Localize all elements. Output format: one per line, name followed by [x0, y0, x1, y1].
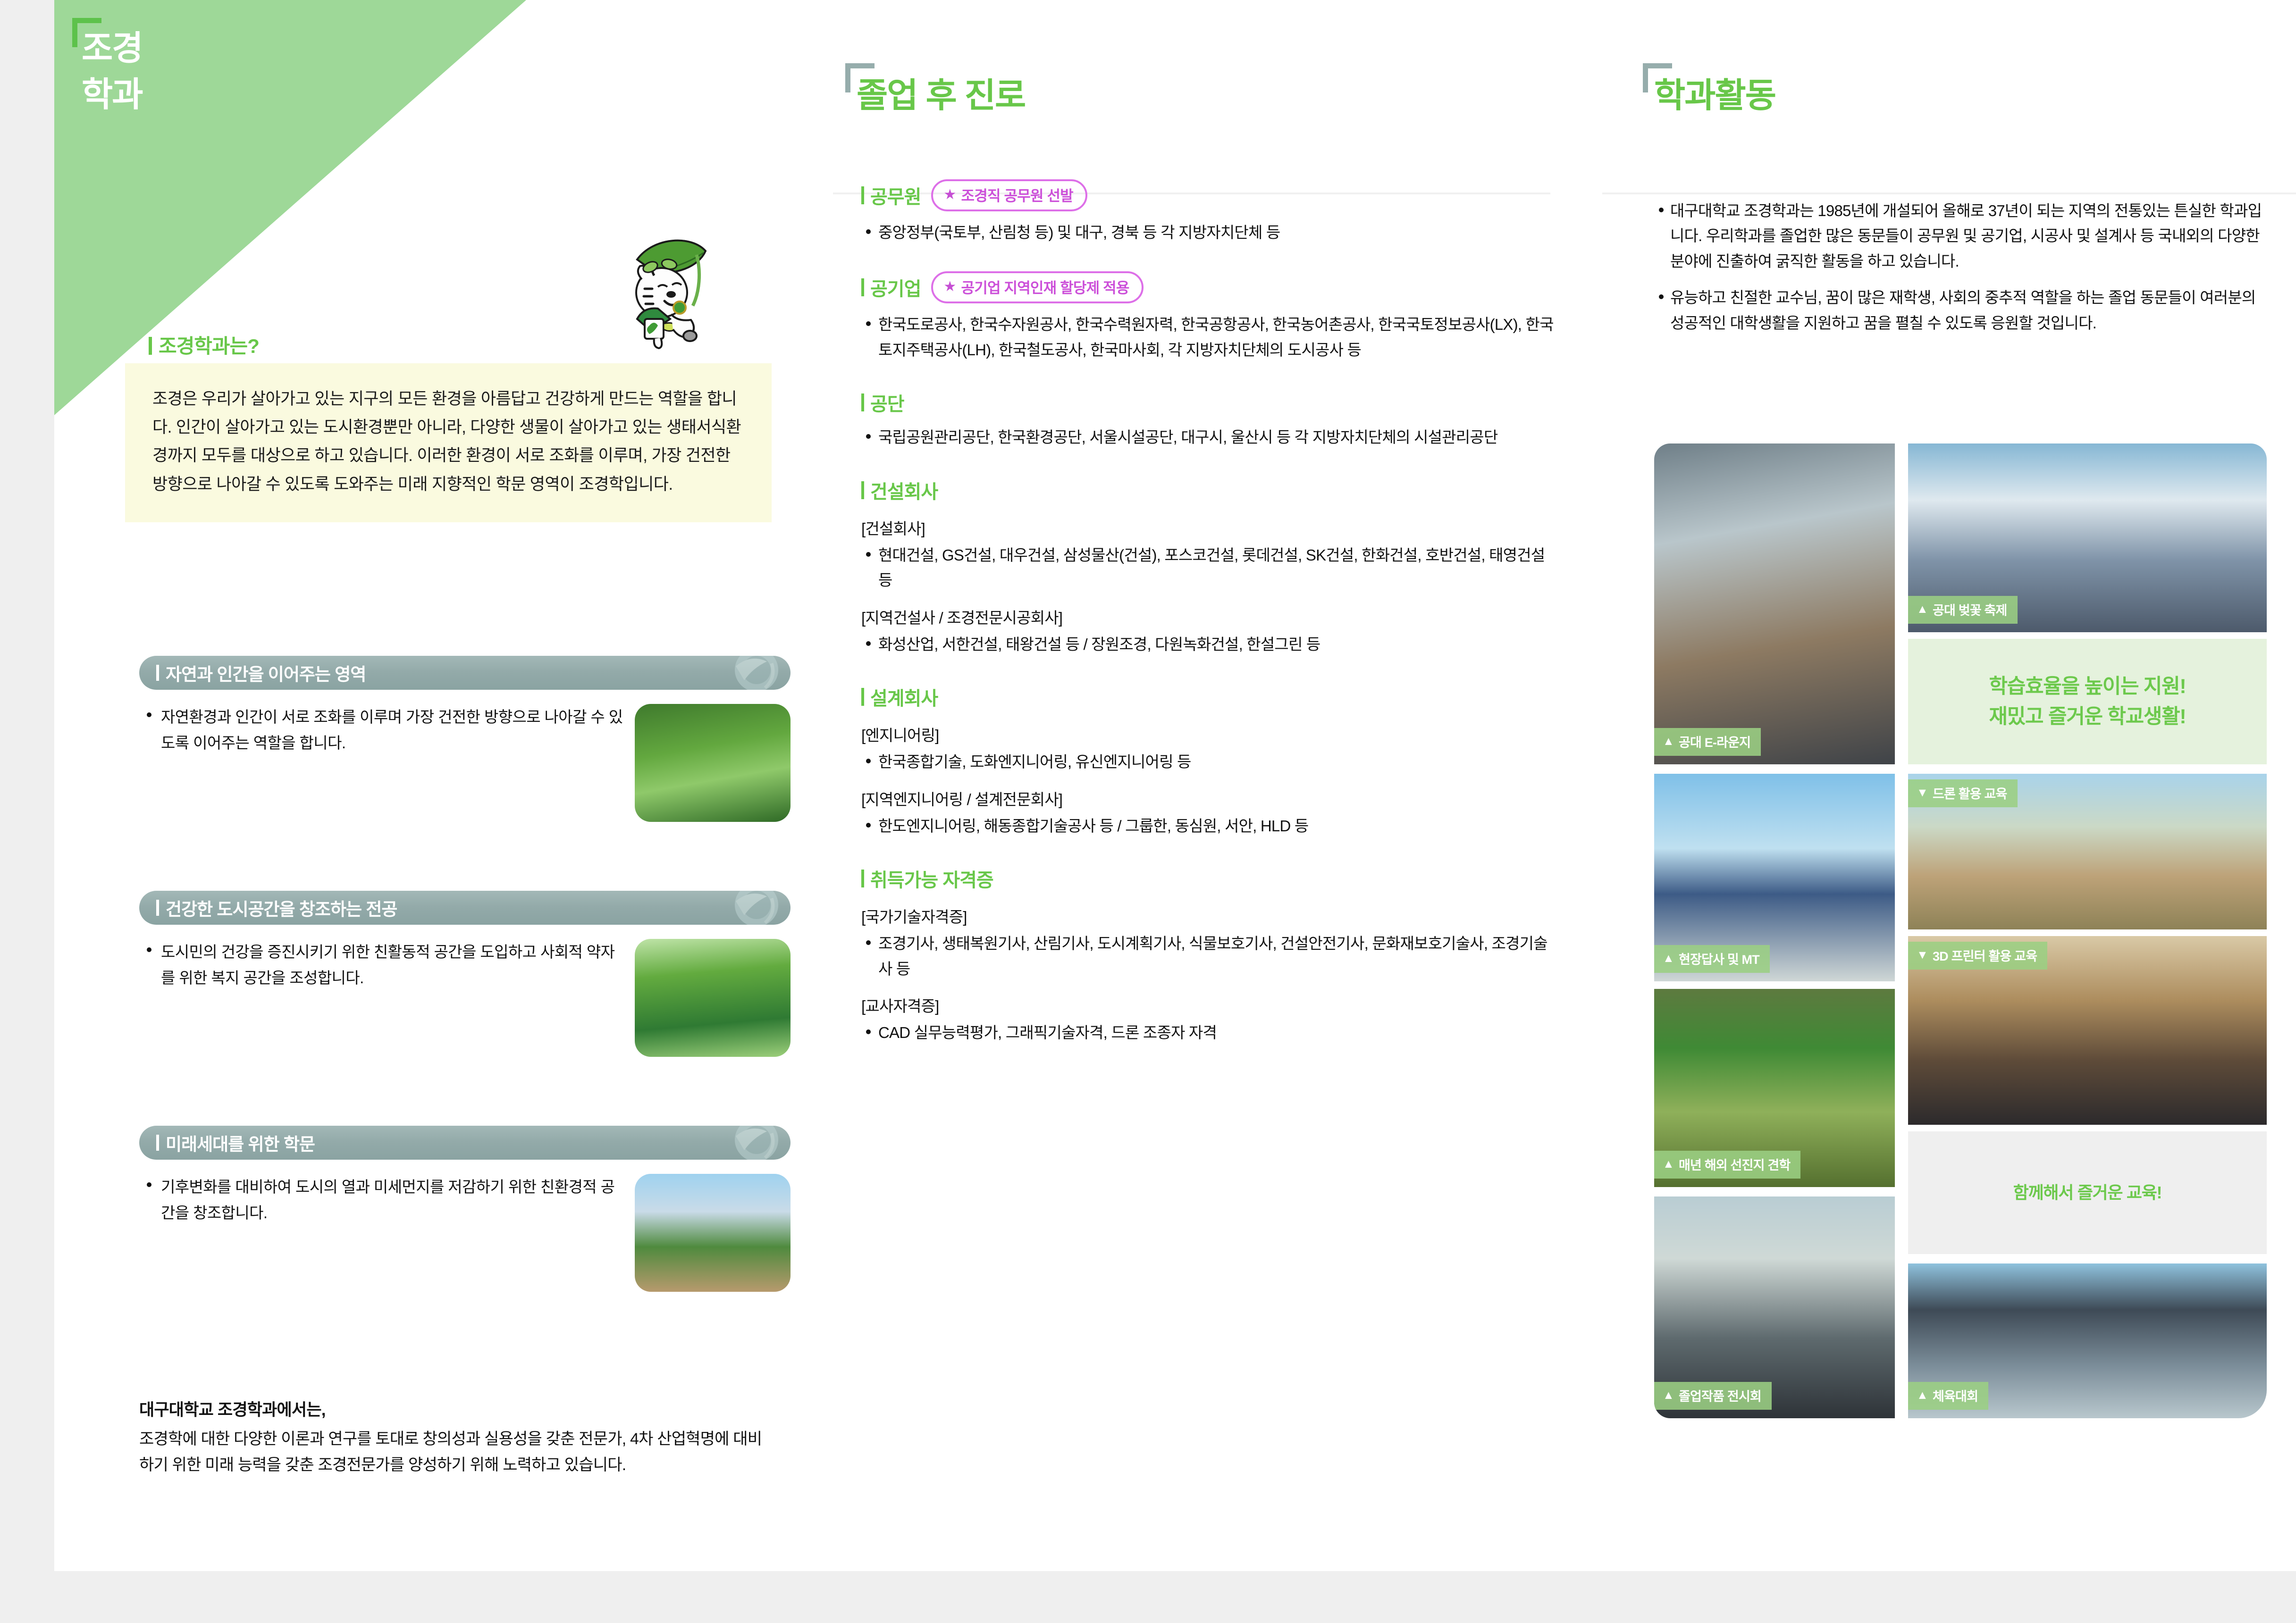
career-heading-1: 공기업 [870, 274, 921, 301]
triangle-up-icon: ▲ [1917, 603, 1928, 615]
career-section-public-enterprise: 공기업 ★ 공기업 지역인재 할당제 적용 한국도로공사, 한국수자원공사, 한… [861, 271, 1555, 362]
photo-tile-sports-day: ▲ 체육대회 [1908, 1263, 2267, 1418]
career-heading-row-2: 공단 [861, 389, 1555, 416]
white-tiger-mascot-icon [609, 226, 713, 349]
photo-tile-3d-printer: ▼ 3D 프린터 활용 교육 [1908, 936, 2267, 1125]
activities-intro: 대구대학교 조경학과는 1985년에 개설되어 올해로 37년이 되는 지역의 … [1654, 198, 2263, 347]
photo-caption-e-lounge: ▲ 공대 E-라운지 [1654, 728, 1761, 756]
career-heading-0: 공무원 [870, 182, 921, 209]
triangle-up-icon: ▲ [1917, 1389, 1928, 1401]
star-icon: ★ [943, 278, 956, 295]
corner-bracket-icon [1643, 63, 1672, 92]
intro-paragraph: 조경은 우리가 살아가고 있는 지구의 모든 환경을 아름답고 건강하게 만드는… [152, 385, 744, 499]
bullet-dot [866, 552, 871, 557]
career-sections: 공무원 ★ 조경직 공무원 선발 중앙정부(국토부, 산림청 등) 및 대구, … [861, 179, 1555, 1050]
corner-bracket-icon [72, 18, 101, 47]
intro-question-title: 조경학과는? [149, 330, 259, 359]
bullet-dot [866, 434, 871, 439]
triangle-up-icon: ▲ [1663, 1158, 1674, 1170]
photo-tile-e-lounge: ▲ 공대 E-라운지 [1654, 443, 1895, 764]
accent-bar [861, 481, 864, 499]
bullet-dot [866, 321, 871, 326]
career-heading-2: 공단 [870, 389, 904, 416]
feature-header-1: 자연과 인간을 이어주는 영역 [139, 656, 791, 690]
career-heading-row-1: 공기업 ★ 공기업 지역인재 할당제 적용 [861, 271, 1555, 303]
bullet-dot [866, 759, 871, 763]
career-group-label-5-0: [국가기술자격증] [861, 904, 1555, 927]
bullet-dot [147, 1182, 151, 1187]
accent-bar [861, 870, 864, 887]
closing-body: 조경학에 대한 다양한 이론과 연구를 토대로 창의성과 실용성을 갖춘 전문가… [139, 1426, 772, 1478]
bullet-dot [147, 712, 151, 717]
promo-banner-small: 함께해서 즐거운 교육! [1908, 1131, 2267, 1254]
activities-section-title: 학과활동 [1649, 71, 1775, 116]
career-badge-0: ★ 조경직 공무원 선발 [931, 179, 1087, 211]
career-section-title: 졸업 후 진로 [852, 71, 1025, 116]
bullet-dot [866, 940, 871, 945]
department-title-line2: 학과 [78, 69, 142, 115]
career-heading-row-4: 설계회사 [861, 683, 1555, 711]
photo-caption-field-trip: ▲ 현장답사 및 MT [1654, 945, 1770, 973]
career-group-label-4-1: [지역엔지니어링 / 설계전문회사] [861, 787, 1555, 810]
photo-tile-graduation-exhibition: ▲ 졸업작품 전시회 [1654, 1196, 1895, 1418]
bullet-dot [147, 947, 151, 952]
feature-header-3: 미래세대를 위한 학문 [139, 1126, 791, 1160]
activities-intro-bullet-1: 유능하고 친절한 교수님, 꿈이 많은 재학생, 사회의 중추적 역할을 하는 … [1654, 285, 2263, 335]
closing-lead: 대구대학교 조경학과에서는, [139, 1397, 772, 1421]
feature-body-1: 자연환경과 인간이 서로 조화를 이루며 가장 건전한 방향으로 나아갈 수 있… [139, 704, 791, 822]
career-group-label-5-1: [교사자격증] [861, 994, 1555, 1016]
career-section-public-servant: 공무원 ★ 조경직 공무원 선발 중앙정부(국토부, 산림청 등) 및 대구, … [861, 179, 1555, 245]
circle-swirl-decor-icon [720, 656, 786, 690]
career-section-construction: 건설회사 [건설회사] 현대건설, GS건설, 대우건설, 삼성물산(건설), … [861, 477, 1555, 657]
feature-title-1: 자연과 인간을 이어주는 영역 [166, 660, 366, 686]
career-group-label-3-0: [건설회사] [861, 516, 1555, 539]
header-rule-right [1602, 192, 2296, 194]
circle-swirl-decor-icon [720, 891, 786, 925]
photo-tile-cherry-festival: ▲ 공대 벚꽃 축제 [1908, 443, 2267, 632]
photo-caption-sports-day: ▲ 체육대회 [1908, 1382, 1988, 1410]
career-section-corporation: 공단 국립공원관리공단, 한국환경공단, 서울시설공단, 대구시, 울산시 등 … [861, 389, 1555, 450]
accent-bar [861, 278, 864, 296]
accent-bar [861, 186, 864, 204]
photo-caption-overseas-tour: ▲ 매년 해외 선진지 견학 [1654, 1151, 1800, 1179]
feature-title-2: 건강한 도시공간을 창조하는 전공 [166, 895, 397, 920]
photo-caption-3d-printer: ▼ 3D 프린터 활용 교육 [1908, 942, 2047, 970]
photo-caption-cherry-festival: ▲ 공대 벚꽃 축제 [1908, 596, 2018, 624]
circle-swirl-decor-icon [720, 1126, 786, 1160]
bullet-dot [1659, 208, 1664, 212]
feature-body-3: 기후변화를 대비하여 도시의 열과 미세먼지를 저감하기 위한 친환경적 공간을… [139, 1174, 791, 1292]
triangle-up-icon: ▲ [1663, 736, 1674, 747]
triangle-down-icon: ▼ [1917, 949, 1928, 961]
triangle-down-icon: ▼ [1917, 787, 1928, 799]
career-item-1-0: 한국도로공사, 한국수자원공사, 한국수력원자력, 한국공항공사, 한국농어촌공… [861, 312, 1555, 362]
career-badge-1: ★ 공기업 지역인재 할당제 적용 [931, 271, 1143, 303]
promo-small-line: 함께해서 즐거운 교육! [2013, 1180, 2161, 1205]
promo-line-1: 학습효율을 높이는 지원! [1989, 671, 2186, 702]
feature-photo-2 [635, 939, 791, 1057]
feature-photo-1 [635, 704, 791, 822]
feature-body-2: 도시민의 건강을 증진시키기 위한 친활동적 공간을 도입하고 사회적 약자를 … [139, 939, 791, 1057]
career-heading-row-0: 공무원 ★ 조경직 공무원 선발 [861, 179, 1555, 211]
career-item-5-0: 조경기사, 생태복원기사, 산림기사, 도시계획기사, 식물보호기사, 건설안전… [861, 931, 1555, 981]
career-item-4-1: 한도엔지니어링, 해동종합기술공사 등 / 그룹한, 동심원, 서안, HLD … [861, 813, 1555, 838]
feature-block-3: 미래세대를 위한 학문 기후변화를 대비하여 도시의 열과 미세먼지를 저감하기… [139, 1126, 791, 1292]
feature-title-3: 미래세대를 위한 학문 [166, 1130, 315, 1155]
triangle-up-icon: ▲ [1663, 1389, 1674, 1401]
career-item-0-0: 중앙정부(국토부, 산림청 등) 및 대구, 경북 등 각 지방자치단체 등 [861, 220, 1555, 245]
bullet-dot [866, 1029, 871, 1034]
career-group-label-4-0: [엔지니어링] [861, 723, 1555, 745]
promo-banner-big: 학습효율을 높이는 지원! 재밌고 즐거운 학교생활! [1908, 639, 2267, 764]
brochure-page: 조경 학과 조경학과는? [54, 0, 2296, 1571]
career-heading-5: 취득가능 자격증 [870, 865, 993, 892]
accent-bar [156, 665, 159, 681]
intro-text-box: 조경은 우리가 살아가고 있는 지구의 모든 환경을 아름답고 건강하게 만드는… [125, 363, 772, 522]
accent-bar [156, 1135, 159, 1151]
feature-block-1: 자연과 인간을 이어주는 영역 자연환경과 인간이 서로 조화를 이루며 가장 … [139, 656, 791, 822]
photo-tile-field-trip: ▲ 현장답사 및 MT [1654, 774, 1895, 981]
bullet-dot [1659, 294, 1664, 299]
photo-tile-overseas-tour: ▲ 매년 해외 선진지 견학 [1654, 989, 1895, 1187]
department-title: 조경 학과 [78, 23, 142, 115]
career-heading-row-3: 건설회사 [861, 477, 1555, 504]
feature-text-1: 자연환경과 인간이 서로 조화를 이루며 가장 건전한 방향으로 나아갈 수 있… [139, 704, 635, 822]
career-title-text: 졸업 후 진로 [852, 71, 1025, 116]
career-section-design: 설계회사 [엔지니어링] 한국종합기술, 도화엔지니어링, 유신엔지니어링 등 … [861, 683, 1555, 838]
accent-bar [156, 900, 159, 916]
feature-header-2: 건강한 도시공간을 창조하는 전공 [139, 891, 791, 925]
feature-text-2: 도시민의 건강을 증진시키기 위한 친활동적 공간을 도입하고 사회적 약자를 … [139, 939, 635, 1057]
bullet-dot [866, 823, 871, 828]
photo-caption-drone-training: ▼ 드론 활용 교육 [1908, 779, 2018, 807]
feature-block-2: 건강한 도시공간을 창조하는 전공 도시민의 건강을 증진시키기 위한 친활동적… [139, 891, 791, 1057]
star-icon: ★ [943, 186, 956, 203]
career-item-2-0: 국립공원관리공단, 한국환경공단, 서울시설공단, 대구시, 울산시 등 각 지… [861, 425, 1555, 450]
career-heading-row-5: 취득가능 자격증 [861, 865, 1555, 892]
accent-bar [861, 688, 864, 706]
bullet-dot [866, 641, 871, 646]
career-heading-4: 설계회사 [870, 683, 938, 711]
triangle-up-icon: ▲ [1663, 953, 1674, 964]
photo-tile-drone-training: ▼ 드론 활용 교육 [1908, 774, 2267, 929]
closing-statement: 대구대학교 조경학과에서는, 조경학에 대한 다양한 이론과 연구를 토대로 창… [139, 1397, 772, 1478]
career-section-certifications: 취득가능 자격증 [국가기술자격증] 조경기사, 생태복원기사, 산림기사, 도… [861, 865, 1555, 1045]
feature-text-3: 기후변화를 대비하여 도시의 열과 미세먼지를 저감하기 위한 친환경적 공간을… [139, 1174, 635, 1292]
career-item-4-0: 한국종합기술, 도화엔지니어링, 유신엔지니어링 등 [861, 749, 1555, 774]
corner-bracket-icon [845, 63, 875, 92]
feature-photo-3 [635, 1174, 791, 1292]
career-group-label-3-1: [지역건설사 / 조경전문시공회사] [861, 605, 1555, 628]
career-item-3-0: 현대건설, GS건설, 대우건설, 삼성물산(건설), 포스코건설, 롯데건설,… [861, 543, 1555, 593]
photo-caption-graduation-exhibition: ▲ 졸업작품 전시회 [1654, 1382, 1772, 1410]
promo-line-2: 재밌고 즐거운 학교생활! [1989, 702, 2186, 732]
bullet-dot [866, 229, 871, 234]
accent-bar [149, 337, 152, 355]
activities-intro-bullet-0: 대구대학교 조경학과는 1985년에 개설되어 올해로 37년이 되는 지역의 … [1654, 198, 2263, 274]
accent-bar [861, 393, 864, 411]
career-item-3-1: 화성산업, 서한건설, 태왕건설 등 / 장원조경, 다원녹화건설, 한설그린 … [861, 632, 1555, 657]
career-heading-3: 건설회사 [870, 477, 938, 504]
career-item-5-1: CAD 실무능력평가, 그래픽기술자격, 드론 조종자 자격 [861, 1020, 1555, 1045]
